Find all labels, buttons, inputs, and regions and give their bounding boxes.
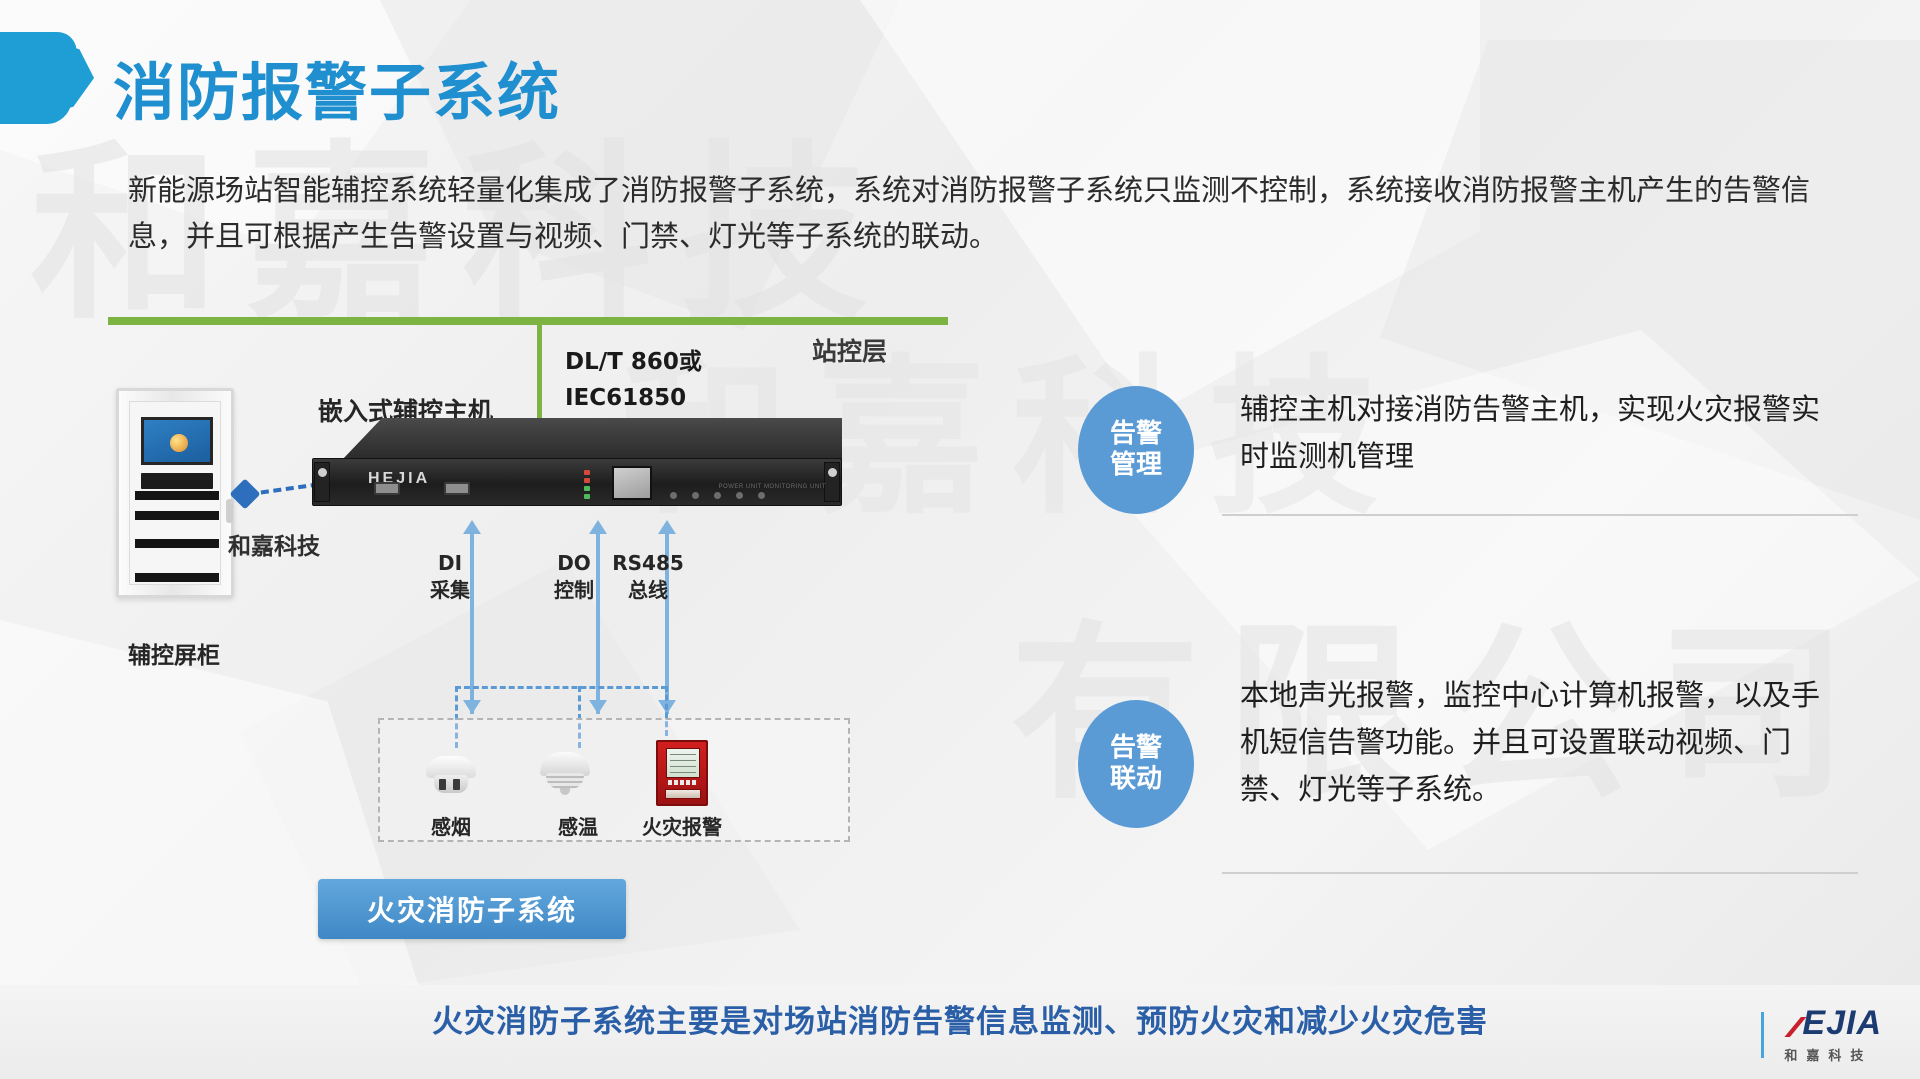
device-rack-ear-right [824,462,840,502]
badge-alarm-linkage-line1: 告警 [1110,733,1162,764]
embedded-host-device: HEJIA POWER UNIT MONITORING UNIT [312,418,842,516]
sensor-bus-horizontal [455,686,667,689]
cabinet-module-4 [135,539,219,548]
fire-panel-display-line-1 [670,754,696,755]
bus-arrow-down-di [463,700,481,714]
fire-panel-display-line-2 [670,760,696,761]
feature-divider-2 [1222,872,1858,874]
bus-label-do: DO 控制 [554,550,594,604]
device-rack-ear-left [314,462,330,502]
device-button-3[interactable] [714,492,721,499]
cabinet-module-5 [135,573,219,582]
sensor-label-heat: 感温 [558,814,598,841]
badge-alarm-management: 告警 管理 [1078,386,1194,514]
feature-block-alarm-linkage: 告警 联动 本地声光报警，监控中心计算机报警，以及手机短信告警功能。并且可设置联… [1078,700,1878,828]
station-layer-label: 站控层 [812,332,887,368]
bus-arrow-up-di [463,520,481,534]
footer-slogan: 火灾消防子系统主要是对场站消防告警信息监测、预防火灾和减少火灾危害 [0,996,1920,1041]
bus-label-di: DI 采集 [430,550,470,604]
device-usb-port-1 [374,482,400,495]
feature-text-alarm-linkage: 本地声光报警，监控中心计算机报警，以及手机短信告警功能。并且可设置联动视频、门禁… [1240,672,1828,813]
badge-alarm-linkage: 告警 联动 [1078,700,1194,828]
feature-divider-1 [1222,514,1858,516]
logo-text-group: EJIA 和嘉科技 [1784,1006,1882,1064]
bus-desc-di: 采集 [430,577,470,604]
bus-name-di: DI [430,550,470,577]
bus-desc-rs485: 总线 [612,577,684,604]
fire-panel-display-line-4 [670,772,696,773]
bus-name-rs485: RS485 [612,550,684,577]
logo-wordmark: EJIA [1802,1004,1882,1042]
bus-arrow-up-do [589,520,607,534]
device-status-led-1 [584,470,590,475]
device-status-led-4 [584,494,590,499]
smoke-detector-vent-right [453,779,460,790]
device-status-led-2 [584,478,590,483]
page-title: 消防报警子系统 [113,42,561,132]
fire-panel-keypad [665,789,701,799]
bus-arrow-down-do [589,700,607,714]
logo-divider-rule [1761,1012,1764,1058]
heat-detector-rings [546,773,584,789]
badge-alarm-linkage-line2: 联动 [1110,764,1162,795]
badge-alarm-management-line1: 告警 [1110,419,1162,450]
feature-block-alarm-management: 告警 管理 辅控主机对接消防告警主机，实现火灾报警实时监测机管理 [1078,386,1878,514]
cabinet-module-1 [141,473,213,489]
cabinet-door-handle [226,499,233,523]
station-layer-bar [108,317,948,325]
fire-panel-display [666,748,700,778]
protocol-label-line1: DL/T 860或 [565,345,702,381]
cabinet-module-3 [135,511,219,520]
sensor-label-smoke: 感烟 [431,814,471,841]
badge-alarm-management-line2: 管理 [1110,450,1162,481]
logo-subtitle: 和嘉科技 [1784,1045,1882,1064]
company-logo: EJIA 和嘉科技 [1761,1006,1882,1064]
device-model-text: POWER UNIT MONITORING UNIT [719,484,826,490]
station-layer-dropline [537,325,542,423]
fire-panel-indicator-strip [668,780,698,785]
device-status-led-3 [584,486,590,491]
bus-desc-do: 控制 [554,577,594,604]
bus-name-do: DO [554,550,594,577]
fire-alarm-panel-icon [656,740,708,806]
control-cabinet-image [116,388,234,598]
feature-text-alarm-management: 辅控主机对接消防告警主机，实现火灾报警实时监测机管理 [1240,386,1820,480]
logo-wordmark-row: EJIA [1784,1006,1882,1040]
bus-arrow-up-rs485 [658,520,676,534]
bus-label-rs485: RS485 总线 [612,550,684,604]
company-callout-label: 和嘉科技 [228,527,320,561]
cabinet-label: 辅控屏柜 [128,636,220,670]
heat-detector-tip [560,788,570,795]
device-button-2[interactable] [692,492,699,499]
device-button-4[interactable] [736,492,743,499]
device-lcd-screen [612,466,652,500]
intro-paragraph: 新能源场站智能辅控系统轻量化集成了消防报警子系统，系统对消防报警子系统只监测不控… [128,168,1818,260]
fire-subsystem-pill-button[interactable]: 火灾消防子系统 [318,879,626,939]
cabinet-monitor [141,417,213,465]
heat-detector-icon [537,752,593,798]
device-usb-port-2 [444,482,470,495]
protocol-label-line2: IEC61850 [565,381,686,417]
device-button-5[interactable] [758,492,765,499]
device-top-panel [342,418,842,460]
smoke-detector-icon [420,756,482,796]
smoke-detector-vent-left [439,779,446,790]
cabinet-module-2 [135,491,219,500]
title-corner-tab [0,32,79,124]
fire-panel-display-line-3 [670,766,696,767]
sensor-label-fire-alarm: 火灾报警 [642,814,722,841]
fire-subsystem-pill-label: 火灾消防子系统 [367,889,577,929]
device-button-1[interactable] [670,492,677,499]
